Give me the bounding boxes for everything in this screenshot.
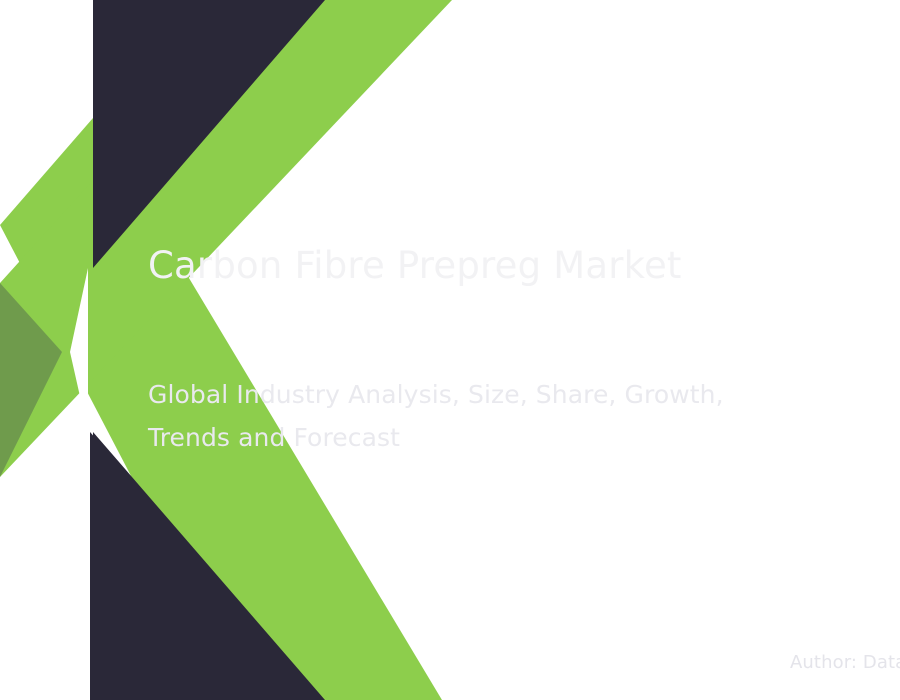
slide-background-graphics bbox=[0, 0, 900, 700]
slide-text-block: Carbon Fibre Prepreg Market Global Indus… bbox=[148, 243, 848, 288]
author-credit: Author: Data bbox=[790, 652, 900, 673]
panel-left-gap bbox=[70, 268, 88, 432]
dark-content-panel-overlay bbox=[93, 0, 900, 700]
background-fill bbox=[0, 0, 900, 700]
green-bands-overlap bbox=[0, 283, 62, 477]
dark-content-panel bbox=[90, 0, 900, 700]
slide-subtitle: Global Industry Analysis, Size, Share, G… bbox=[148, 373, 788, 459]
page-title: Carbon Fibre Prepreg Market bbox=[148, 243, 848, 288]
title-slide: Carbon Fibre Prepreg Market Global Indus… bbox=[0, 0, 900, 700]
